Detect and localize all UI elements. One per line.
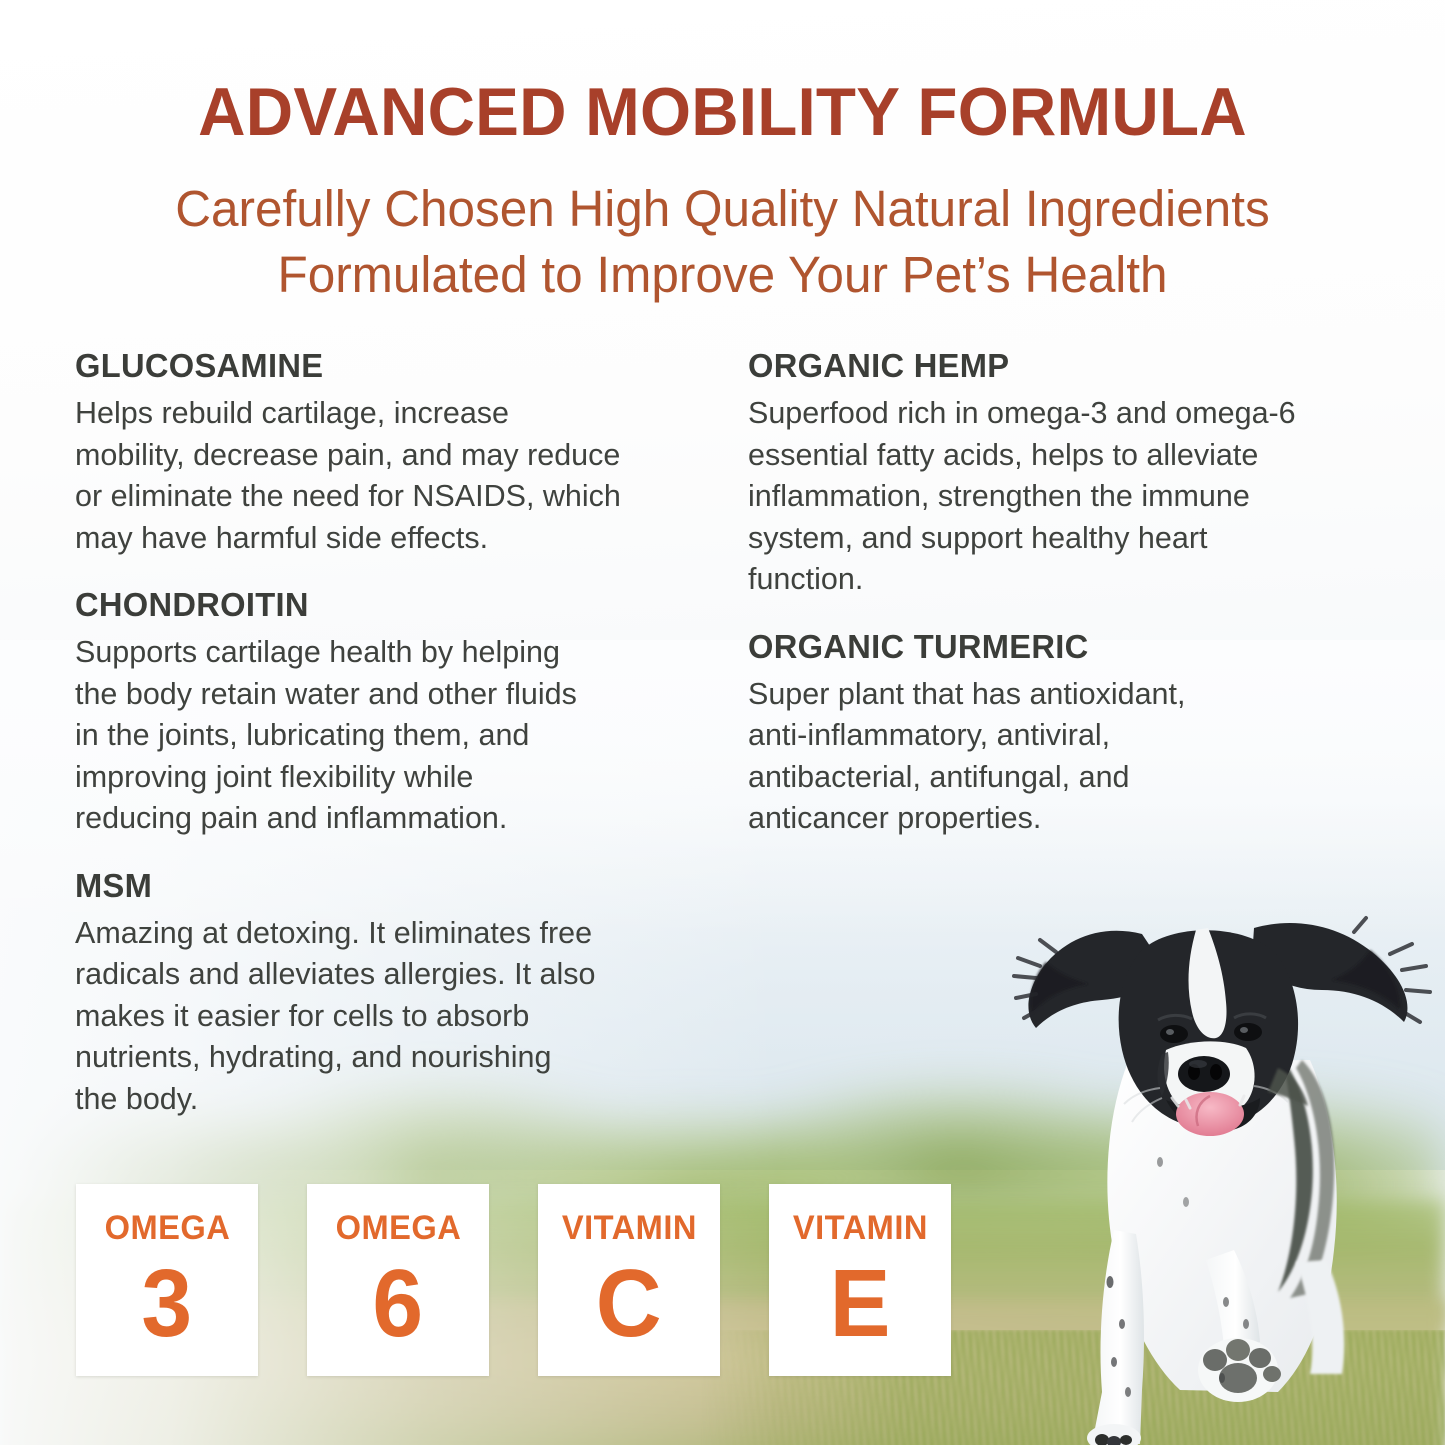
badge-value: E (830, 1248, 891, 1360)
text-line: Amazing at detoxing. It eliminates free (75, 913, 695, 955)
ingredients-column-right: ORGANIC HEMP Superfood rich in omega-3 a… (748, 346, 1358, 840)
ingredient-title: MSM (75, 866, 689, 906)
ingredient-chondroitin: CHONDROITIN Supports cartilage health by… (75, 585, 695, 840)
infographic-poster: ADVANCED MOBILITY FORMULA Carefully Chos… (0, 0, 1445, 1445)
text-line: nutrients, hydrating, and nourishing (75, 1037, 695, 1079)
ingredient-description: Amazing at detoxing. It eliminates free … (75, 913, 695, 1121)
badge-value: 6 (373, 1248, 424, 1360)
page-subtitle: Carefully Chosen High Quality Natural In… (40, 176, 1405, 308)
badge-vitamin-e: VITAMIN E (769, 1184, 951, 1376)
badge-label: OMEGA (104, 1210, 230, 1246)
badge-omega-3: OMEGA 3 (76, 1184, 258, 1376)
badge-vitamin-c: VITAMIN C (538, 1184, 720, 1376)
ingredient-description: Helps rebuild cartilage, increase mobili… (75, 393, 695, 559)
ingredient-msm: MSM Amazing at detoxing. It eliminates f… (75, 866, 695, 1121)
text-line: Super plant that has antioxidant, (748, 674, 1358, 716)
badge-value: 3 (142, 1248, 193, 1360)
ingredient-description: Super plant that has antioxidant, anti-i… (748, 674, 1358, 840)
text-line: reducing pain and inflammation. (75, 798, 695, 840)
ingredient-title: GLUCOSAMINE (75, 346, 689, 386)
page-title: ADVANCED MOBILITY FORMULA (25, 74, 1419, 150)
text-line: Superfood rich in omega-3 and omega-6 (748, 393, 1358, 435)
text-line: anticancer properties. (748, 798, 1358, 840)
text-line: may have harmful side effects. (75, 518, 695, 560)
text-line: the body. (75, 1079, 695, 1121)
text-line: mobility, decrease pain, and may reduce (75, 435, 695, 477)
ingredient-organic-hemp: ORGANIC HEMP Superfood rich in omega-3 a… (748, 346, 1358, 601)
text-line: radicals and alleviates allergies. It al… (75, 954, 695, 996)
text-line: or eliminate the need for NSAIDS, which (75, 476, 695, 518)
text-line: makes it easier for cells to absorb (75, 996, 695, 1038)
ingredient-glucosamine: GLUCOSAMINE Helps rebuild cartilage, inc… (75, 346, 695, 559)
text-line: the body retain water and other fluids (75, 674, 695, 716)
subtitle-line-2: Formulated to Improve Your Pet’s Health (60, 242, 1384, 308)
ingredient-title: ORGANIC HEMP (748, 346, 1352, 386)
subtitle-line-1: Carefully Chosen High Quality Natural In… (60, 176, 1384, 242)
text-line: function. (748, 559, 1358, 601)
ingredients-column-left: GLUCOSAMINE Helps rebuild cartilage, inc… (75, 346, 695, 1120)
text-line: in the joints, lubricating them, and (75, 715, 695, 757)
ingredient-title: CHONDROITIN (75, 585, 689, 625)
badge-label: VITAMIN (792, 1210, 927, 1246)
nutrient-badges: OMEGA 3 OMEGA 6 VITAMIN C VITAMIN E (76, 1184, 951, 1376)
ingredient-description: Supports cartilage health by helping the… (75, 632, 695, 840)
badge-omega-6: OMEGA 6 (307, 1184, 489, 1376)
ingredient-title: ORGANIC TURMERIC (748, 627, 1352, 667)
ingredient-description: Superfood rich in omega-3 and omega-6 es… (748, 393, 1358, 601)
badge-label: VITAMIN (561, 1210, 696, 1246)
text-line: Supports cartilage health by helping (75, 632, 695, 674)
text-line: system, and support healthy heart (748, 518, 1358, 560)
text-line: anti-inflammatory, antiviral, (748, 715, 1358, 757)
text-line: essential fatty acids, helps to alleviat… (748, 435, 1358, 477)
text-line: improving joint flexibility while (75, 757, 695, 799)
text-line: Helps rebuild cartilage, increase (75, 393, 695, 435)
badge-label: OMEGA (335, 1210, 461, 1246)
poster-content: ADVANCED MOBILITY FORMULA Carefully Chos… (0, 0, 1445, 1445)
ingredient-organic-turmeric: ORGANIC TURMERIC Super plant that has an… (748, 627, 1358, 840)
text-line: antibacterial, antifungal, and (748, 757, 1358, 799)
badge-value: C (596, 1248, 662, 1360)
text-line: inflammation, strengthen the immune (748, 476, 1358, 518)
